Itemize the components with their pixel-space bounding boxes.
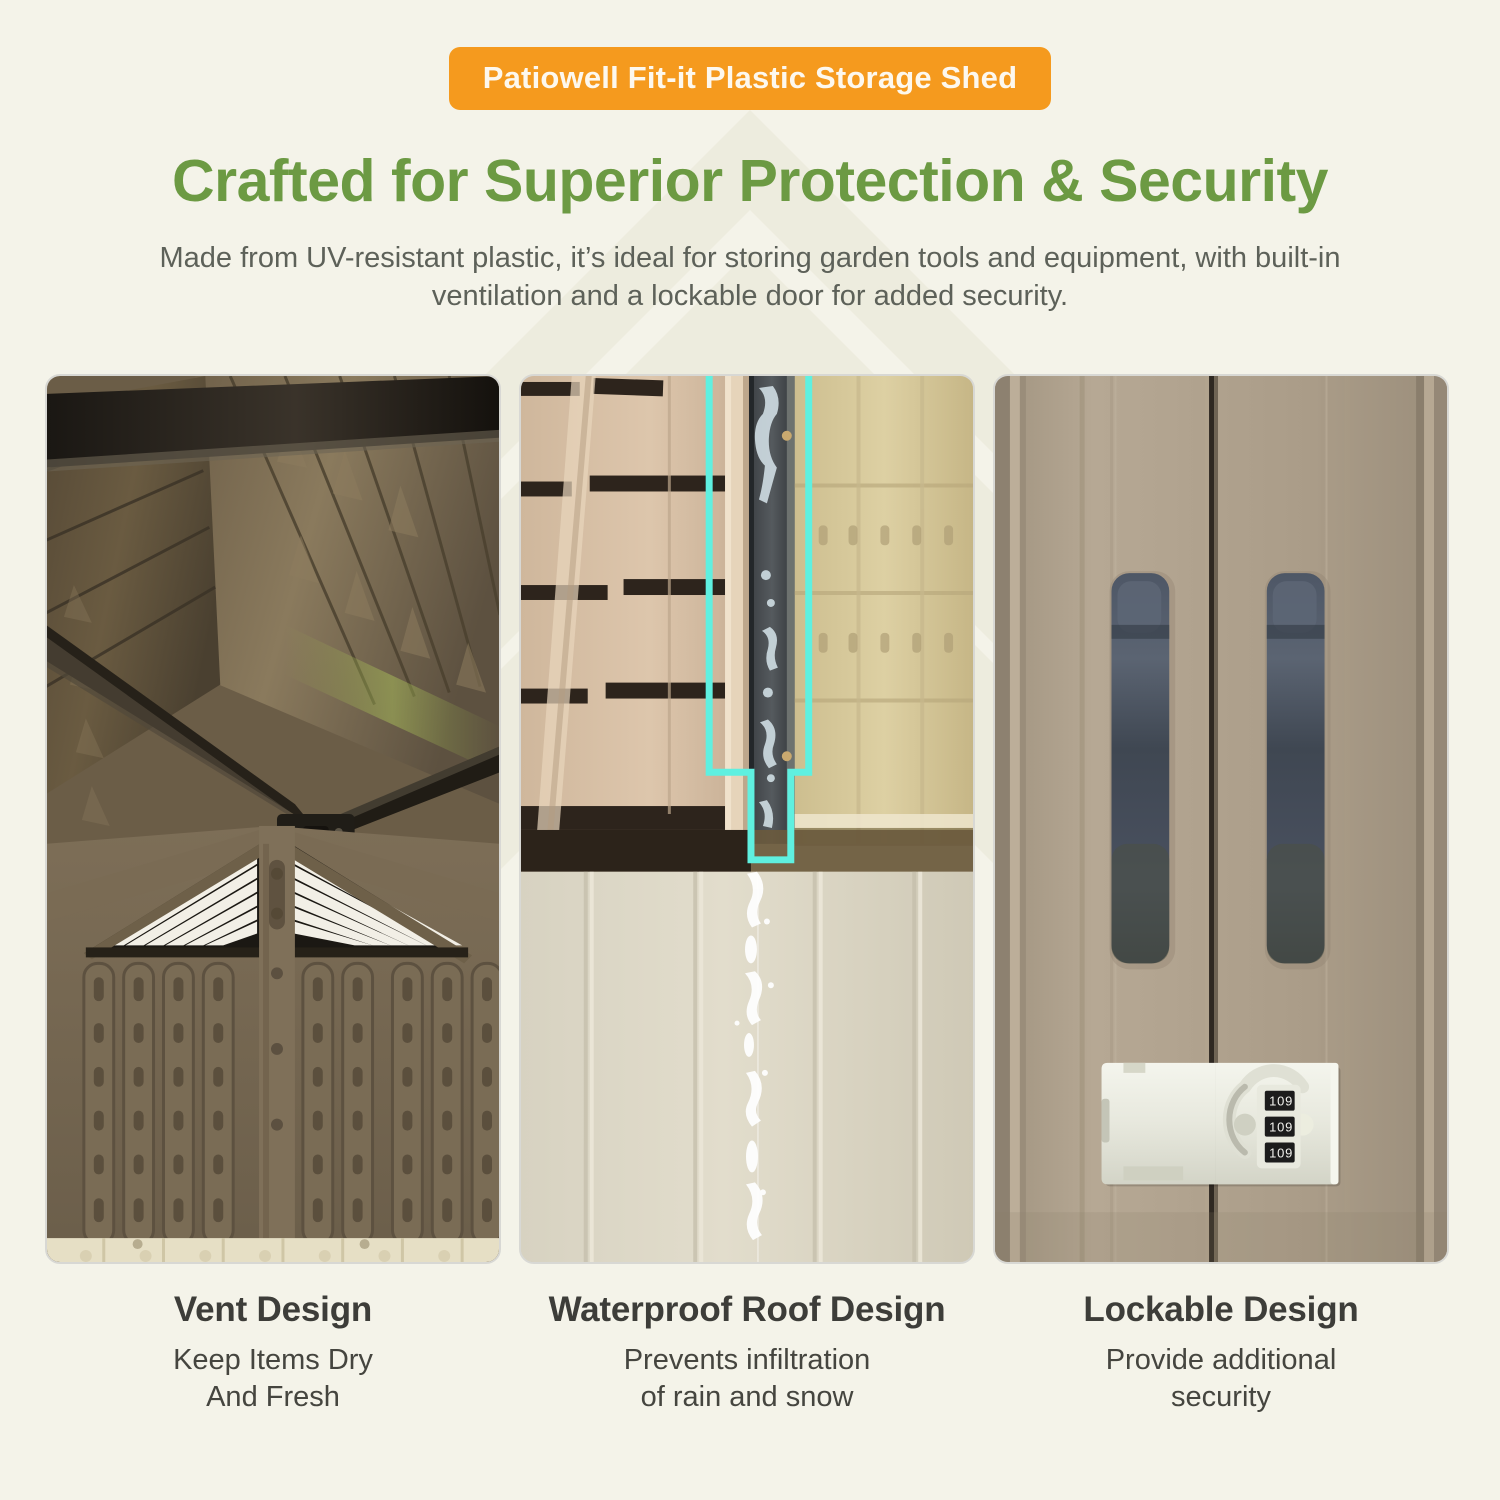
door-handle-right-shape: [1265, 571, 1331, 969]
page-subtitle: Made from UV-resistant plastic, it’s ide…: [155, 239, 1345, 317]
svg-text:1: 1: [1269, 1094, 1276, 1109]
page-header: Patiowell Fit-it Plastic Storage Shed Cr…: [0, 0, 1500, 316]
combination-lock-shape: 109 109 109: [1102, 1063, 1341, 1186]
card-subtitle: Prevents infiltration of rain and snow: [624, 1342, 871, 1416]
feature-card-lockable: 109 109 109 Lockable Design Provide addi…: [993, 374, 1449, 1416]
door-handle-left-shape: [1110, 571, 1176, 969]
card-subtitle: Provide additional security: [1106, 1342, 1337, 1416]
card-title: Vent Design: [174, 1290, 372, 1330]
lockable-door-handles-photo: 109 109 109: [993, 374, 1449, 1264]
badge-container: Patiowell Fit-it Plastic Storage Shed: [0, 0, 1500, 110]
svg-text:0: 0: [1277, 1146, 1284, 1161]
product-name-badge: Patiowell Fit-it Plastic Storage Shed: [449, 47, 1052, 110]
waterproof-roof-joint-photo: [519, 374, 975, 1264]
svg-text:1: 1: [1269, 1120, 1276, 1135]
feature-card-vent: Vent Design Keep Items Dry And Fresh: [45, 374, 501, 1416]
card-title: Waterproof Roof Design: [549, 1290, 946, 1330]
svg-text:9: 9: [1285, 1120, 1292, 1135]
svg-text:0: 0: [1277, 1120, 1284, 1135]
svg-text:9: 9: [1285, 1094, 1292, 1109]
feature-card-waterproof: Waterproof Roof Design Prevents infiltra…: [519, 374, 975, 1416]
shed-interior-gable-vent-photo: [45, 374, 501, 1264]
card-title: Lockable Design: [1083, 1290, 1358, 1330]
card-subtitle: Keep Items Dry And Fresh: [173, 1342, 373, 1416]
feature-card-row: Vent Design Keep Items Dry And Fresh: [0, 374, 1500, 1416]
svg-text:1: 1: [1269, 1146, 1276, 1161]
page-title: Crafted for Superior Protection & Securi…: [0, 150, 1500, 213]
svg-text:9: 9: [1285, 1146, 1292, 1161]
svg-text:0: 0: [1277, 1094, 1284, 1109]
